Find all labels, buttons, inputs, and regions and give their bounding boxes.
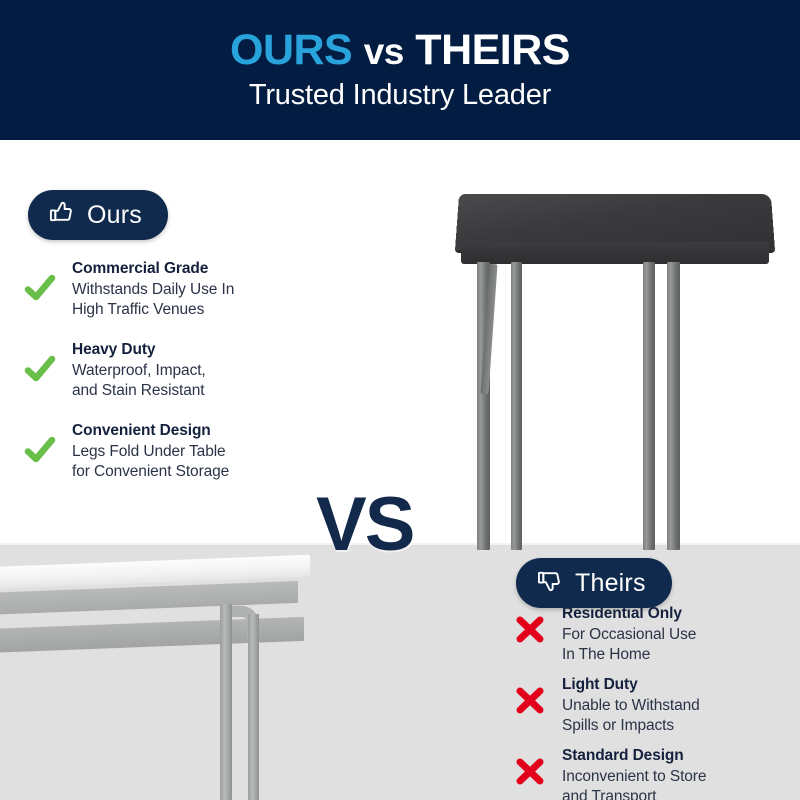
check-icon: [22, 270, 58, 306]
theirs-product-image: [0, 562, 320, 800]
feature-desc-line: Legs Fold Under Table: [72, 442, 229, 462]
list-item: Residential Only For Occasional Use In T…: [512, 603, 794, 666]
list-item: Commercial Grade Withstands Daily Use In…: [22, 258, 302, 321]
title-vs: vs: [364, 31, 404, 72]
table-leg: [248, 614, 259, 800]
feature-text: Convenient Design Legs Fold Under Table …: [72, 420, 229, 483]
feature-desc-line: Spills or Impacts: [562, 716, 700, 736]
table-leg: [511, 262, 522, 550]
theirs-badge[interactable]: Theirs: [516, 558, 672, 608]
feature-text: Light Duty Unable to Withstand Spills or…: [562, 674, 700, 737]
feature-text: Residential Only For Occasional Use In T…: [562, 603, 696, 666]
thumbs-up-icon: [48, 199, 75, 231]
list-item: Heavy Duty Waterproof, Impact, and Stain…: [22, 339, 302, 402]
theirs-feature-list: Residential Only For Occasional Use In T…: [512, 603, 794, 800]
feature-title: Commercial Grade: [72, 259, 234, 280]
comparison-infographic: OURS vs THEIRS Trusted Industry Leader: [0, 0, 800, 800]
feature-text: Commercial Grade Withstands Daily Use In…: [72, 258, 234, 321]
table-leg: [667, 262, 680, 550]
feature-desc-line: Inconvenient to Store: [562, 767, 706, 787]
list-item: Convenient Design Legs Fold Under Table …: [22, 420, 302, 483]
feature-desc-line: High Traffic Venues: [72, 300, 234, 320]
thumbs-down-icon: [536, 567, 563, 599]
feature-title: Light Duty: [562, 675, 700, 696]
feature-title: Residential Only: [562, 604, 696, 625]
cross-icon: [512, 611, 548, 647]
ours-feature-list: Commercial Grade Withstands Daily Use In…: [22, 258, 302, 500]
header-banner: OURS vs THEIRS Trusted Industry Leader: [0, 0, 800, 140]
list-item: Light Duty Unable to Withstand Spills or…: [512, 674, 794, 737]
vs-divider-label: VS: [316, 487, 413, 563]
ours-product-image: [455, 190, 775, 550]
header-subtitle: Trusted Industry Leader: [249, 79, 551, 112]
feature-desc-line: In The Home: [562, 645, 696, 665]
feature-desc-line: For Occasional Use: [562, 625, 696, 645]
feature-desc-line: and Stain Resistant: [72, 381, 206, 401]
page-title: OURS vs THEIRS: [230, 28, 570, 73]
ours-badge[interactable]: Ours: [28, 190, 168, 240]
check-icon: [22, 432, 58, 468]
feature-desc-line: and Transport: [562, 787, 706, 800]
ours-badge-label: Ours: [87, 201, 142, 230]
table-leg: [220, 604, 232, 800]
title-ours: OURS: [230, 26, 352, 74]
table-edge: [461, 242, 769, 264]
cross-icon: [512, 753, 548, 789]
feature-desc-line: Withstands Daily Use In: [72, 280, 234, 300]
feature-text: Heavy Duty Waterproof, Impact, and Stain…: [72, 339, 206, 402]
feature-title: Heavy Duty: [72, 340, 206, 361]
feature-text: Standard Design Inconvenient to Store an…: [562, 745, 706, 800]
table-leg: [643, 262, 655, 550]
theirs-badge-label: Theirs: [575, 569, 646, 598]
check-icon: [22, 351, 58, 387]
cross-icon: [512, 682, 548, 718]
list-item: Standard Design Inconvenient to Store an…: [512, 745, 794, 800]
title-theirs: THEIRS: [415, 26, 570, 74]
feature-title: Convenient Design: [72, 421, 229, 442]
feature-desc-line: Unable to Withstand: [562, 696, 700, 716]
feature-desc-line: Waterproof, Impact,: [72, 361, 206, 381]
feature-title: Standard Design: [562, 746, 706, 767]
feature-desc-line: for Convenient Storage: [72, 462, 229, 482]
